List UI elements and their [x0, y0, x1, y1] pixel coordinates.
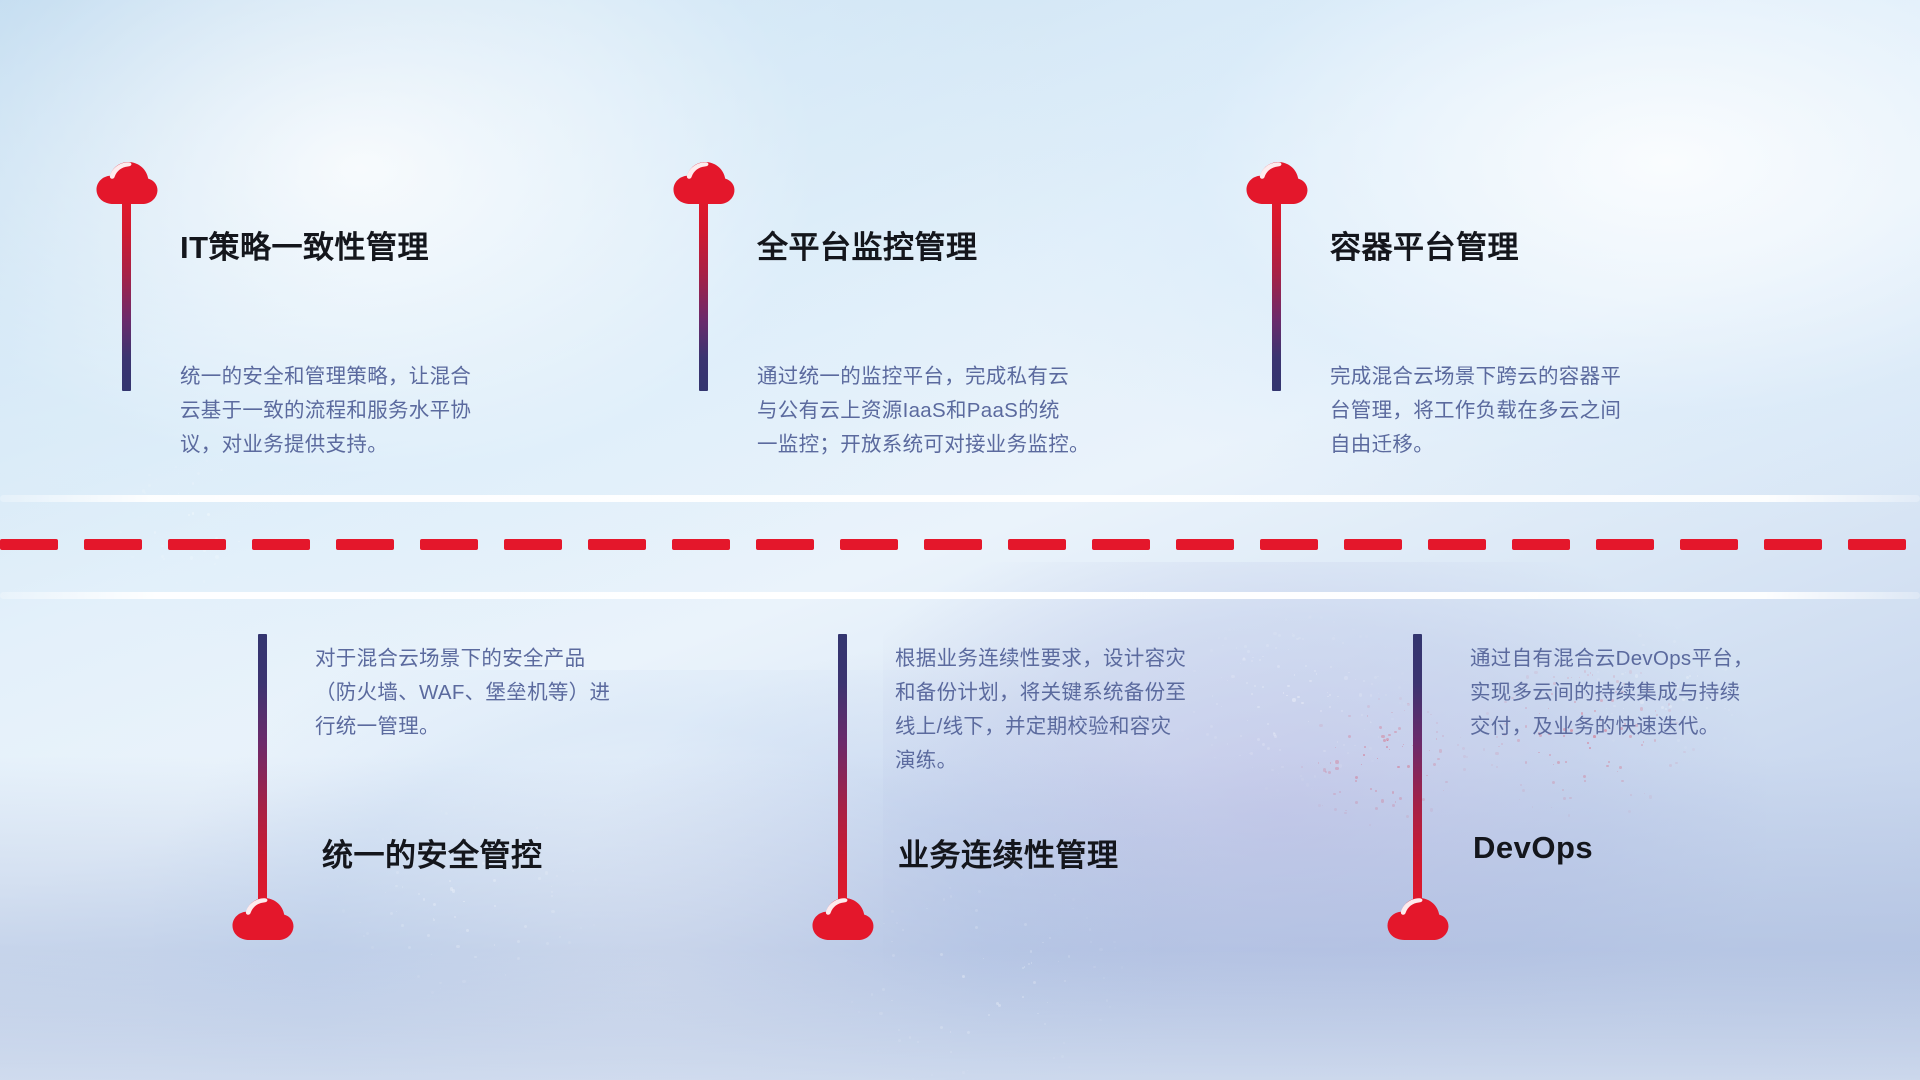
speckle-dot — [449, 880, 451, 882]
speckle-dot — [1332, 637, 1334, 639]
speckle-dot — [1522, 789, 1525, 792]
divider-dash — [504, 539, 562, 550]
speckle-dot — [1339, 764, 1343, 768]
speckle-dot — [456, 945, 459, 948]
speckle-dot — [489, 798, 491, 800]
divider-dash — [1344, 539, 1402, 550]
speckle-dot — [1333, 793, 1336, 796]
speckle-dot — [1430, 808, 1433, 811]
speckle-dot — [1265, 787, 1268, 790]
divider-dash — [672, 539, 730, 550]
connector-stem — [122, 203, 131, 391]
speckle-dot — [1403, 683, 1405, 685]
speckle-dot — [575, 969, 578, 972]
speckle-dot — [950, 895, 953, 898]
background-bottom-highlight — [0, 950, 1920, 1080]
speckle-dot — [1675, 762, 1678, 765]
speckle-dot — [1341, 710, 1343, 712]
speckle-dot — [524, 925, 527, 928]
speckle-dot — [879, 1012, 882, 1015]
speckle-dot — [1347, 752, 1349, 754]
speckle-dot — [1641, 744, 1643, 746]
divider-dash — [840, 539, 898, 550]
speckle-dot — [978, 890, 981, 893]
speckle-dot — [1392, 804, 1395, 807]
speckle-dot — [433, 919, 435, 921]
speckle-dot — [1399, 697, 1402, 700]
speckle-dot — [1114, 947, 1116, 949]
speckle-dot — [1363, 680, 1365, 682]
speckle-dot — [1379, 726, 1382, 729]
speckle-dot — [1022, 996, 1024, 998]
speckle-dot — [1399, 797, 1402, 800]
connector-stem — [699, 203, 708, 391]
speckle-dot — [1381, 799, 1384, 802]
speckle-dot — [474, 956, 476, 958]
speckle-dot — [417, 975, 420, 978]
speckle-dot — [1033, 981, 1036, 984]
speckle-dot — [1498, 746, 1500, 748]
divider-rail-top — [0, 495, 1920, 502]
speckle-dot — [898, 1039, 901, 1042]
speckle-dot — [190, 556, 193, 559]
diagram-canvas: IT策略一致性管理 统一的安全和管理策略，让混合 云基于一致的流程和服务水平协 … — [0, 0, 1920, 1080]
speckle-dot — [1552, 781, 1555, 784]
speckle-dot — [572, 870, 574, 872]
cloud-icon — [811, 896, 875, 942]
item-body: 对于混合云场景下的安全产品 （防火墙、WAF、堡垒机等）进 行统一管理。 — [315, 642, 745, 744]
item-body: 完成混合云场景下跨云的容器平 台管理，将工作负载在多云之间 自由迁移。 — [1330, 360, 1760, 462]
speckle-dot — [439, 982, 441, 984]
speckle-dot — [1676, 627, 1678, 629]
speckle-dot — [559, 936, 561, 938]
speckle-dot — [943, 898, 946, 901]
speckle-dot — [1378, 736, 1379, 737]
speckle-dot — [1068, 1066, 1070, 1068]
speckle-dot — [203, 580, 205, 582]
speckle-dot — [215, 555, 219, 559]
speckle-dot — [912, 1078, 914, 1080]
divider-dash — [756, 539, 814, 550]
speckle-dot — [1386, 746, 1388, 748]
speckle-dot — [452, 889, 455, 892]
divider-dash — [1764, 539, 1822, 550]
speckle-dot — [1359, 693, 1362, 696]
speckle-dot — [1365, 635, 1368, 638]
item-body: 通过统一的监控平台，完成私有云 与公有云上资源IaaS和PaaS的统 一监控；开… — [757, 360, 1197, 462]
speckle-dot — [1386, 738, 1389, 741]
speckle-dot — [1398, 727, 1401, 730]
speckle-dot — [1519, 799, 1520, 800]
speckle-dot — [1563, 797, 1566, 800]
speckle-dot — [891, 1000, 892, 1001]
speckle-dot — [1683, 627, 1684, 628]
speckle-dot — [401, 924, 403, 926]
speckle-dot — [896, 922, 898, 924]
speckle-dot — [517, 940, 520, 943]
speckle-dot — [593, 924, 595, 926]
item-body: 根据业务连续性要求，设计容灾 和备份计划，将关键系统备份至 线上/线下，并定期校… — [895, 642, 1325, 778]
speckle-dot — [1538, 752, 1539, 753]
speckle-dot — [1638, 634, 1641, 637]
speckle-dot — [1370, 694, 1372, 696]
speckle-dot — [1483, 748, 1485, 750]
speckle-dot — [1344, 676, 1348, 680]
speckle-dot — [1037, 1013, 1039, 1015]
speckle-dot — [1628, 810, 1631, 813]
speckle-dot — [1422, 798, 1425, 801]
speckle-dot — [1619, 766, 1622, 769]
speckle-dot — [1348, 715, 1351, 718]
divider-dash — [1596, 539, 1654, 550]
speckle-dot — [1407, 703, 1410, 706]
speckle-dot — [1354, 745, 1355, 746]
speckle-dot — [1334, 808, 1337, 811]
speckle-dot — [342, 909, 345, 912]
speckle-dot — [1443, 790, 1444, 791]
divider-rail-bottom — [0, 592, 1920, 599]
speckle-dot — [1275, 616, 1277, 618]
speckle-dot — [1436, 722, 1438, 724]
speckle-dot — [1384, 646, 1387, 649]
speckle-dot — [1439, 749, 1442, 752]
speckle-dot — [473, 806, 476, 809]
divider-dash — [84, 539, 142, 550]
speckle-dot — [1335, 747, 1336, 748]
speckle-dot — [988, 1014, 990, 1016]
item-body: 通过自有混合云DevOps平台， 实现多云间的持续集成与持续 交付，及业务的快速… — [1470, 642, 1890, 744]
speckle-dot — [1335, 760, 1339, 764]
speckle-dot — [1337, 696, 1339, 698]
connector-stem — [1413, 634, 1422, 904]
connector-stem — [838, 634, 847, 904]
speckle-dot — [1355, 776, 1358, 779]
speckle-dot — [967, 1031, 970, 1034]
speckle-dot — [1565, 761, 1567, 763]
item-title: IT策略一致性管理 — [180, 222, 429, 267]
cloud-icon — [1386, 896, 1450, 942]
speckle-dot — [1430, 714, 1431, 715]
speckle-dot — [1445, 781, 1448, 784]
speckle-dot — [1562, 789, 1564, 791]
speckle-dot — [1606, 765, 1608, 767]
speckle-dot — [1109, 1006, 1111, 1008]
divider-dash — [420, 539, 478, 550]
speckle-dot — [1053, 1057, 1055, 1059]
divider-dash — [1428, 539, 1486, 550]
background-glow-left — [0, 0, 1075, 648]
divider-dash — [0, 539, 58, 550]
speckle-dot — [962, 1071, 965, 1074]
speckle-dot — [950, 1051, 952, 1053]
speckle-dot — [1589, 747, 1591, 749]
speckle-dot — [1426, 775, 1428, 777]
item-title: DevOps — [1473, 830, 1593, 866]
speckle-dot — [1031, 962, 1033, 964]
speckle-dot — [192, 512, 195, 515]
divider-dash — [168, 539, 226, 550]
speckle-dot — [462, 980, 466, 984]
divider-dash — [924, 539, 982, 550]
speckle-dot — [871, 993, 873, 995]
divider-dash — [588, 539, 646, 550]
connector-stem — [1272, 203, 1281, 391]
item-title: 业务连续性管理 — [898, 830, 1119, 875]
cloud-icon — [1245, 160, 1309, 206]
speckle-dot — [1318, 804, 1321, 807]
speckle-dot — [538, 877, 540, 879]
divider-dash — [1512, 539, 1570, 550]
speckle-dot — [363, 935, 365, 937]
speckle-dot — [1402, 746, 1403, 747]
speckle-dot — [551, 910, 554, 913]
speckle-dot — [395, 885, 398, 888]
speckle-dot — [1684, 746, 1687, 749]
speckle-dot — [264, 567, 266, 569]
divider-dash — [336, 539, 394, 550]
speckle-dot — [1355, 780, 1357, 782]
speckle-dot — [1374, 676, 1377, 679]
speckle-dot — [1285, 618, 1287, 620]
speckle-dot — [1335, 767, 1338, 770]
connector-stem — [258, 634, 267, 904]
speckle-dot — [949, 887, 951, 889]
speckle-dot — [1047, 1002, 1048, 1003]
cloud-icon — [231, 896, 295, 942]
speckle-dot — [1378, 698, 1380, 700]
speckle-dot — [423, 898, 426, 901]
divider-dash — [1008, 539, 1066, 550]
divider-dashed-line — [0, 539, 1920, 550]
speckle-dot — [891, 910, 894, 913]
speckle-dot — [1394, 731, 1396, 733]
speckle-dot — [1683, 751, 1686, 754]
speckle-dot — [494, 944, 495, 945]
speckle-dot — [1369, 824, 1371, 826]
speckle-dot — [1273, 632, 1276, 635]
speckle-dot — [1392, 791, 1395, 794]
speckle-dot — [1329, 706, 1331, 708]
speckle-dot — [1388, 734, 1391, 737]
speckle-dot — [119, 531, 121, 533]
divider-dash — [1092, 539, 1150, 550]
item-title: 统一的安全管控 — [322, 830, 543, 875]
speckle-dot — [1630, 794, 1632, 796]
speckle-dot — [1064, 980, 1066, 982]
speckle-dot — [463, 801, 464, 802]
speckle-dot — [1296, 638, 1298, 640]
speckle-dot — [427, 934, 430, 937]
divider-dash — [1848, 539, 1906, 550]
speckle-dot — [1330, 666, 1332, 668]
speckle-dot — [1328, 771, 1331, 774]
speckle-dot — [1292, 634, 1295, 637]
item-title: 全平台监控管理 — [757, 222, 978, 267]
speckle-dot — [1569, 797, 1571, 799]
item-title: 容器平台管理 — [1330, 222, 1519, 267]
divider-dash — [1260, 539, 1318, 550]
speckle-dot — [931, 1074, 933, 1076]
speckle-dot — [359, 922, 361, 924]
speckle-dot — [1568, 814, 1571, 817]
cloud-icon — [672, 160, 736, 206]
divider-dash — [1680, 539, 1738, 550]
speckle-dot — [1381, 735, 1384, 738]
speckle-dot — [1327, 696, 1328, 697]
speckle-dot — [1355, 801, 1358, 804]
speckle-dot — [493, 879, 496, 882]
divider-dash — [252, 539, 310, 550]
divider-dash — [1176, 539, 1234, 550]
speckle-dot — [431, 991, 434, 994]
speckle-dot — [1584, 780, 1586, 782]
cloud-icon — [95, 160, 159, 206]
item-body: 统一的安全和管理策略，让混合 云基于一致的流程和服务水平协 议，对业务提供支持。 — [180, 360, 610, 462]
speckle-dot — [1363, 754, 1365, 756]
speckle-dot — [1367, 705, 1370, 708]
speckle-dot — [1278, 634, 1281, 637]
speckle-dot — [1099, 1019, 1101, 1021]
speckle-dot — [545, 871, 549, 875]
speckle-dot — [1557, 761, 1560, 764]
speckle-dot — [1370, 788, 1372, 790]
